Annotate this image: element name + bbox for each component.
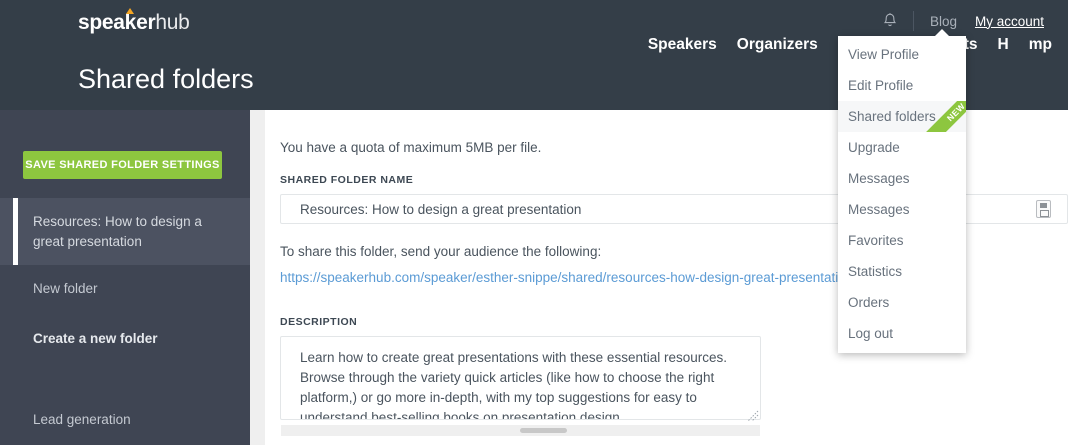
save-icon[interactable]: [1036, 200, 1051, 218]
folder-list: Resources: How to design a great present…: [0, 198, 250, 444]
menu-item-shared-folders-label: Shared folders: [848, 109, 936, 124]
sidebar-gutter: [250, 110, 265, 445]
scrollbar-thumb[interactable]: [520, 428, 567, 433]
bell-icon[interactable]: [881, 12, 899, 30]
main-nav-item-organizers[interactable]: Organizers: [737, 36, 818, 60]
menu-item-favorites[interactable]: Favorites: [838, 225, 966, 256]
description-textarea[interactable]: Learn how to create great presentations …: [280, 336, 761, 420]
main-nav-item-speakers[interactable]: Speakers: [648, 36, 717, 60]
description-horizontal-scrollbar[interactable]: [281, 425, 760, 436]
utility-nav: Blog My account: [881, 9, 1068, 33]
sidebar: SAVE SHARED FOLDER SETTINGS Resources: H…: [0, 110, 250, 445]
menu-item-messages-1[interactable]: Messages: [838, 163, 966, 194]
menu-item-statistics[interactable]: Statistics: [838, 256, 966, 287]
nav-link-blog[interactable]: Blog: [930, 14, 957, 29]
logo-part-1: spea: [78, 11, 125, 34]
nav-link-my-account[interactable]: My account: [975, 14, 1044, 29]
app-root: speakerhub Blog My account Speakers Orga…: [0, 0, 1068, 445]
menu-item-upgrade[interactable]: Upgrade: [838, 132, 966, 163]
logo-part-3: hub: [155, 11, 189, 34]
main-nav-item-mp[interactable]: mp: [1029, 36, 1052, 60]
description-field-wrap: Learn how to create great presentations …: [280, 336, 761, 425]
site-logo[interactable]: speakerhub: [78, 11, 189, 35]
menu-item-view-profile[interactable]: View Profile: [838, 39, 966, 70]
menu-item-messages-2[interactable]: Messages: [838, 194, 966, 225]
save-shared-folder-settings-button[interactable]: SAVE SHARED FOLDER SETTINGS: [23, 151, 222, 179]
sidebar-item-new-folder[interactable]: New folder: [0, 265, 250, 313]
menu-item-log-out[interactable]: Log out: [838, 318, 966, 349]
page-title: Shared folders: [78, 64, 254, 95]
logo-accent-k: k: [125, 11, 136, 34]
nav-divider: [913, 11, 914, 31]
sidebar-item-resources-folder[interactable]: Resources: How to design a great present…: [0, 198, 250, 265]
logo-part-2: er: [136, 11, 155, 34]
menu-item-orders[interactable]: Orders: [838, 287, 966, 318]
sidebar-item-lead-generation[interactable]: Lead generation: [0, 396, 250, 444]
account-dropdown-menu: View Profile Edit Profile Shared folders…: [838, 36, 966, 353]
menu-item-shared-folders[interactable]: Shared folders NEW: [838, 101, 966, 132]
menu-item-edit-profile[interactable]: Edit Profile: [838, 70, 966, 101]
sidebar-item-create-a-new-folder[interactable]: Create a new folder: [0, 313, 250, 365]
shared-folder-url-link[interactable]: https://speakerhub.com/speaker/esther-sn…: [280, 270, 853, 285]
main-nav-item-h[interactable]: H: [998, 36, 1009, 60]
